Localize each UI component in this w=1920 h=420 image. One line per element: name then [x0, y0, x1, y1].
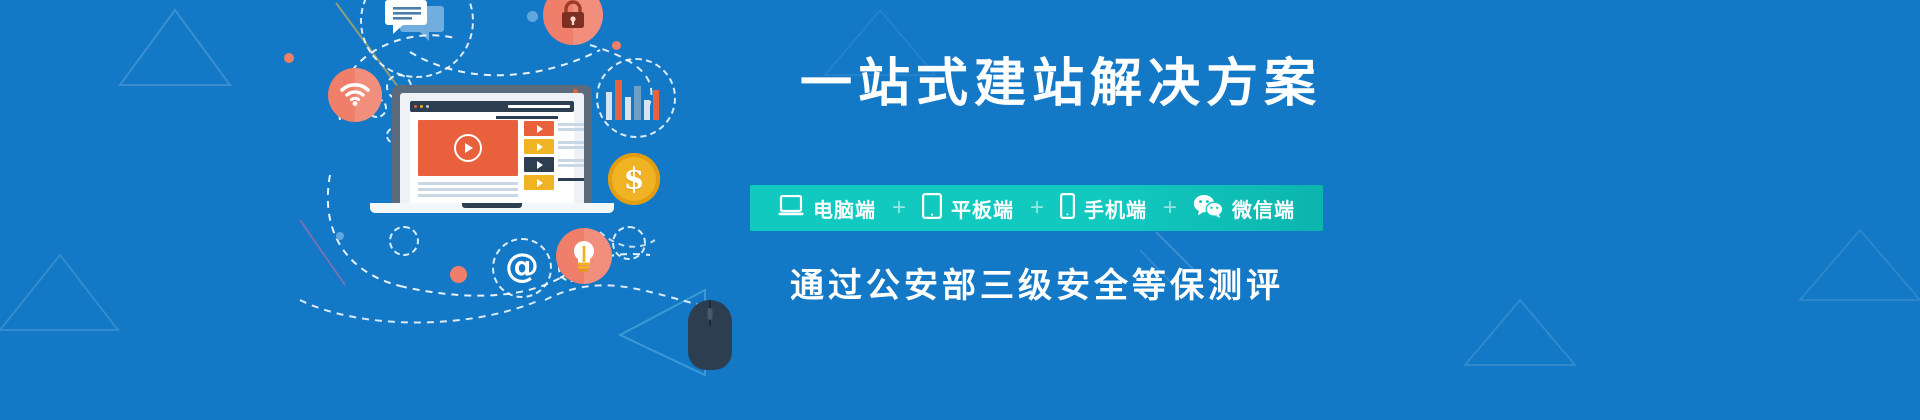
- window-dot-yellow: [420, 105, 423, 108]
- wifi-icon: [328, 68, 382, 122]
- sidebar-line-3: [558, 141, 584, 144]
- page-title: 一站式建站解决方案: [800, 58, 1322, 110]
- accent-dot-4: [450, 266, 467, 283]
- page-content: [410, 112, 574, 203]
- platform-tag-phone[interactable]: 手机端: [1050, 193, 1157, 224]
- coin-dollar-icon: $: [608, 153, 660, 205]
- tag-separator-1: +: [886, 196, 912, 220]
- laptop-icon: [778, 195, 804, 222]
- video-player-thumbnail: [418, 120, 518, 176]
- dollar-symbol: $: [624, 162, 645, 197]
- at-sign-icon: @: [505, 249, 539, 283]
- copy-block: 一站式建站解决方案 电脑端 +: [800, 0, 1920, 420]
- sidebar-line-5: [558, 159, 584, 162]
- dashed-ring-small-5: [612, 226, 646, 260]
- platform-tag-wechat-label: 微信端: [1232, 194, 1295, 223]
- play-button-icon: [454, 134, 482, 162]
- sidebar-line-1: [558, 123, 584, 126]
- platform-tag-desktop[interactable]: 电脑端: [768, 194, 886, 223]
- phone-icon: [1060, 193, 1075, 224]
- laptop-trackpad-notch: [462, 203, 522, 208]
- platform-tag-phone-label: 手机端: [1084, 194, 1147, 223]
- browser-url-bar: [508, 105, 570, 108]
- accent-dot-5: [336, 232, 344, 240]
- browser-chrome-bar: [410, 101, 574, 112]
- accent-dot-1: [284, 53, 294, 63]
- accent-dot-3: [612, 41, 621, 50]
- window-dot-red: [414, 105, 417, 108]
- platform-tag-desktop-label: 电脑端: [813, 194, 876, 223]
- sidebar-thumb-3: [524, 157, 554, 172]
- accent-dot-2: [527, 11, 538, 22]
- sidebar-thumb-2: [524, 139, 554, 154]
- mouse-icon: [688, 300, 732, 370]
- laptop-mockup: [392, 85, 592, 220]
- bar-chart-icon: [606, 72, 662, 125]
- lightbulb-icon: [556, 228, 612, 284]
- tag-separator-3: +: [1157, 196, 1183, 220]
- laptop-lid: [392, 85, 592, 203]
- tag-separator-2: +: [1024, 196, 1050, 220]
- wechat-icon: [1193, 194, 1223, 223]
- page-subtitle: 通过公安部三级安全等保测评: [790, 258, 1284, 307]
- sidebar-line-6: [558, 164, 584, 167]
- tablet-icon: [922, 193, 942, 224]
- body-line-1: [418, 182, 518, 185]
- platform-tag-wechat[interactable]: 微信端: [1183, 194, 1305, 223]
- chat-bubble-icon: [385, 0, 447, 53]
- sidebar-thumb-1: [524, 121, 554, 136]
- promo-banner: $ @: [0, 0, 1920, 420]
- window-dot-grey: [426, 105, 429, 108]
- sidebar-line-4: [558, 146, 584, 149]
- body-line-2: [418, 188, 518, 191]
- laptop-screen: [400, 93, 584, 203]
- bottom-line: [558, 178, 584, 181]
- platform-tag-tablet-label: 平板端: [951, 194, 1014, 223]
- platform-tag-bar: 电脑端 + 平板端 +: [750, 185, 1323, 231]
- bottom-thumb-1: [524, 175, 554, 190]
- sidebar-line-2: [558, 128, 584, 131]
- platform-tag-tablet[interactable]: 平板端: [912, 193, 1024, 224]
- body-line-3: [418, 194, 518, 197]
- nav-line: [496, 116, 558, 119]
- dashed-ring-medium: [389, 226, 419, 256]
